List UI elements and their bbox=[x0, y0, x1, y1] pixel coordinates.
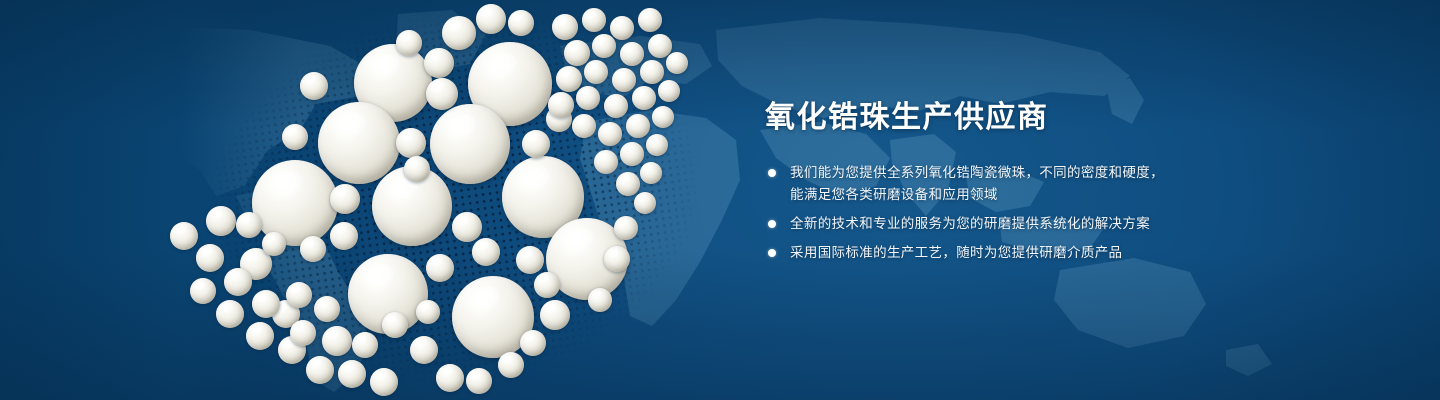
banner-copy: 氧化锆珠生产供应商 我们能为您提供全系列氧化锆陶瓷微珠，不同的密度和硬度， 能满… bbox=[765, 100, 1235, 271]
bead bbox=[330, 184, 360, 214]
bead bbox=[548, 92, 574, 118]
bead bbox=[190, 278, 216, 304]
bead bbox=[576, 86, 600, 110]
bead bbox=[632, 86, 656, 110]
bead bbox=[236, 212, 262, 238]
bead bbox=[436, 364, 464, 392]
bead bbox=[498, 352, 524, 378]
bead bbox=[640, 162, 662, 184]
bullet-dot-icon bbox=[768, 220, 776, 228]
bead bbox=[442, 16, 476, 50]
bead bbox=[430, 104, 510, 184]
bullet-dot-icon bbox=[768, 169, 776, 177]
bead bbox=[540, 300, 570, 330]
bead bbox=[582, 8, 606, 32]
bullet-dot-icon bbox=[768, 249, 776, 257]
bead bbox=[404, 156, 430, 182]
bead bbox=[252, 290, 280, 318]
list-item-line1: 采用国际标准的生产工艺，随时为您提供研磨介质产品 bbox=[790, 245, 1122, 260]
bead bbox=[286, 282, 312, 308]
bead bbox=[604, 94, 628, 118]
list-item-line1: 我们能为您提供全系列氧化锆陶瓷微珠，不同的密度和硬度， bbox=[790, 165, 1164, 180]
list-item-line1: 全新的技术和专业的服务为您的研磨提供系统化的解决方案 bbox=[790, 216, 1150, 231]
bead bbox=[604, 246, 630, 272]
bead bbox=[612, 68, 636, 92]
bead bbox=[252, 160, 338, 246]
bead bbox=[338, 360, 366, 388]
list-item-line2: 能满足您各类研磨设备和应用领域 bbox=[790, 184, 1235, 206]
bead bbox=[616, 172, 640, 196]
page-title: 氧化锆珠生产供应商 bbox=[765, 100, 1235, 136]
bead bbox=[246, 322, 274, 350]
bead bbox=[564, 40, 590, 66]
feature-list: 我们能为您提供全系列氧化锆陶瓷微珠，不同的密度和硬度， 能满足您各类研磨设备和应… bbox=[765, 162, 1235, 264]
bead bbox=[522, 130, 550, 158]
bead bbox=[216, 300, 244, 328]
bead bbox=[640, 60, 664, 84]
bead bbox=[588, 288, 612, 312]
bead bbox=[626, 114, 650, 138]
bead bbox=[322, 326, 352, 356]
bead bbox=[318, 102, 400, 184]
list-item: 采用国际标准的生产工艺，随时为您提供研磨介质产品 bbox=[765, 242, 1235, 264]
bead bbox=[330, 222, 358, 250]
bead bbox=[584, 60, 608, 84]
bead bbox=[666, 52, 688, 74]
bead bbox=[282, 124, 308, 150]
bead bbox=[476, 4, 506, 34]
hero-banner: 氧化锆珠生产供应商 我们能为您提供全系列氧化锆陶瓷微珠，不同的密度和硬度， 能满… bbox=[0, 0, 1440, 400]
bead bbox=[410, 336, 438, 364]
bead bbox=[300, 236, 326, 262]
bead bbox=[416, 300, 440, 324]
bead bbox=[646, 134, 668, 156]
bead bbox=[382, 312, 408, 338]
bead bbox=[634, 192, 656, 214]
bead bbox=[572, 114, 596, 138]
bead bbox=[516, 246, 544, 274]
bead bbox=[610, 16, 634, 40]
bead bbox=[300, 72, 328, 100]
bead bbox=[520, 330, 546, 356]
list-item: 全新的技术和专业的服务为您的研磨提供系统化的解决方案 bbox=[765, 213, 1235, 235]
bead bbox=[658, 80, 680, 102]
bead bbox=[426, 254, 454, 282]
bead bbox=[196, 244, 224, 272]
bead bbox=[206, 206, 236, 236]
bead bbox=[472, 238, 500, 266]
zirconia-beads-photo bbox=[0, 0, 760, 400]
bead bbox=[170, 222, 198, 250]
bead bbox=[594, 150, 618, 174]
bead bbox=[306, 356, 334, 384]
bead bbox=[314, 296, 340, 322]
bead bbox=[556, 66, 582, 92]
bead bbox=[396, 30, 422, 56]
bead bbox=[466, 368, 492, 394]
bead bbox=[424, 48, 454, 78]
bead bbox=[652, 106, 674, 128]
bead bbox=[262, 232, 286, 256]
bead bbox=[620, 142, 644, 166]
bead bbox=[638, 8, 662, 32]
bead bbox=[620, 42, 644, 66]
bead bbox=[426, 78, 458, 110]
bead bbox=[552, 14, 578, 40]
bead bbox=[290, 320, 316, 346]
bead bbox=[534, 272, 560, 298]
bead bbox=[370, 368, 398, 396]
bead bbox=[592, 34, 616, 58]
list-item: 我们能为您提供全系列氧化锆陶瓷微珠，不同的密度和硬度， 能满足您各类研磨设备和应… bbox=[765, 162, 1235, 206]
bead bbox=[508, 10, 534, 36]
bead bbox=[396, 128, 426, 158]
bead bbox=[598, 122, 622, 146]
bead bbox=[452, 212, 482, 242]
bead bbox=[224, 268, 252, 296]
bead bbox=[352, 332, 378, 358]
bead bbox=[614, 216, 638, 240]
